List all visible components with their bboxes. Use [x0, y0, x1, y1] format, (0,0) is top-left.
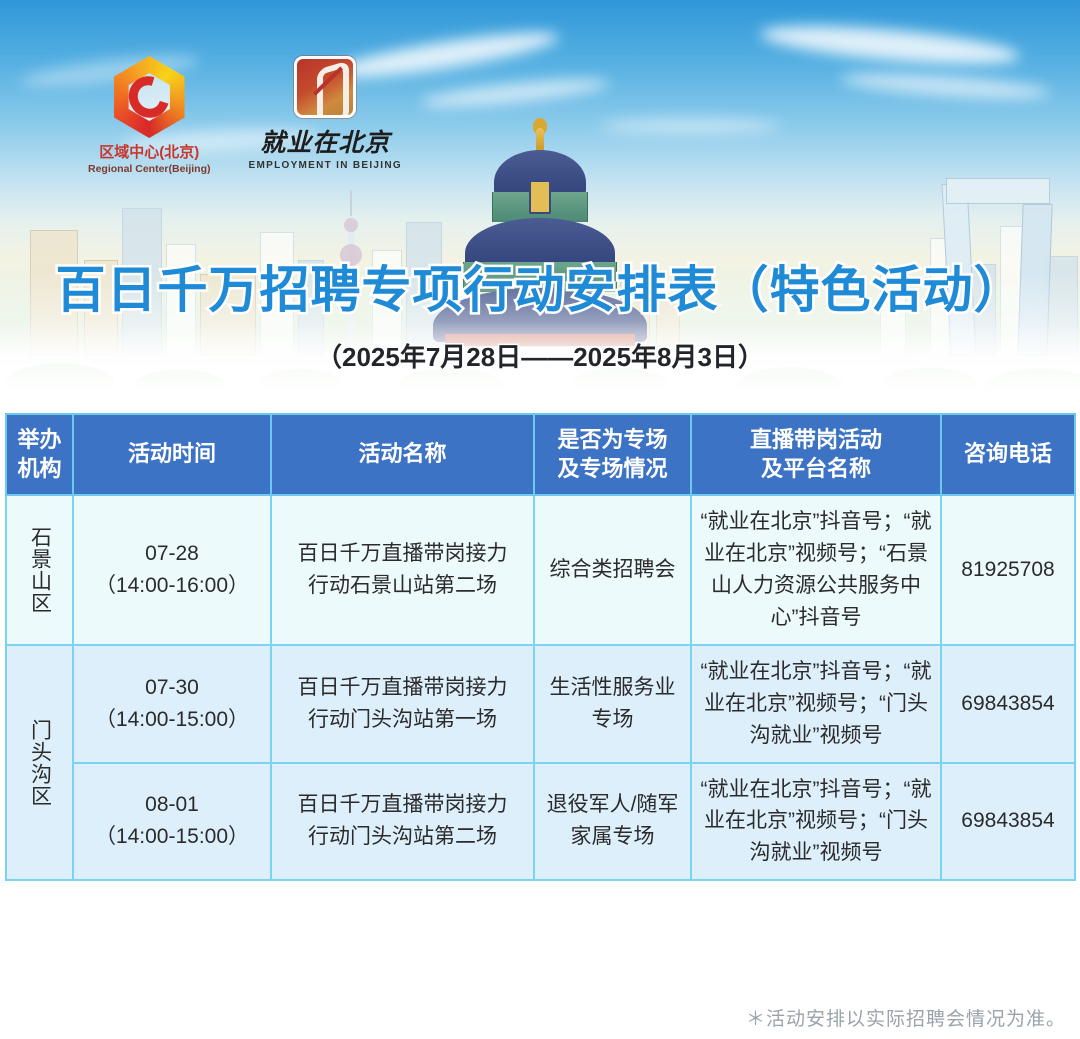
logo-employment-cn: 就业在北京 — [249, 123, 402, 159]
table-header-row: 举办 机构 活动时间 活动名称 是否为专场 及专场情况 直播带岗活动 及平台名称… — [6, 414, 1075, 495]
square-badge-logo-icon — [294, 56, 356, 118]
tv-tower-sphere-small — [344, 218, 358, 232]
column-header-organizer-line1: 举办 — [11, 426, 68, 455]
cell-special-session-line2: 家属专场 — [543, 821, 682, 853]
table-row: 门头沟区 07-30 （14:00-15:00） 百日千万直播带岗接力 行动门头… — [6, 645, 1075, 763]
cell-activity-name: 百日千万直播带岗接力 行动门头沟站第一场 — [271, 645, 534, 763]
table-row: 08-01 （14:00-15:00） 百日千万直播带岗接力 行动门头沟站第二场… — [6, 763, 1075, 881]
cell-special-session-line1: 退役军人/随军 — [543, 789, 682, 821]
cloud-decoration — [840, 69, 1051, 104]
column-header-time: 活动时间 — [73, 414, 271, 495]
column-header-livestream: 直播带岗活动 及平台名称 — [691, 414, 941, 495]
cell-phone: 69843854 — [941, 645, 1075, 763]
cell-special-session: 生活性服务业 专场 — [534, 645, 691, 763]
column-header-special-session-line2: 及专场情况 — [539, 455, 686, 484]
cell-activity-name-line1: 百日千万直播带岗接力 — [280, 789, 525, 821]
cloud-decoration — [759, 19, 1021, 72]
logo-regional-center-en: Regional Center(Beijing) — [88, 163, 211, 175]
cell-activity-name: 百日千万直播带岗接力 行动门头沟站第二场 — [271, 763, 534, 881]
cell-time: 08-01 （14:00-15:00） — [73, 763, 271, 881]
cctv-building-top — [946, 178, 1050, 204]
column-header-organizer: 举办 机构 — [6, 414, 73, 495]
cell-livestream: “就业在北京”抖音号；“就业在北京”视频号；“石景山人力资源公共服务中心”抖音号 — [691, 495, 941, 645]
cell-time-range: （14:00-15:00） — [82, 704, 262, 736]
logo-employment-en: EMPLOYMENT IN BEIJING — [249, 160, 402, 171]
schedule-table-container: 举办 机构 活动时间 活动名称 是否为专场 及专场情况 直播带岗活动 及平台名称… — [5, 413, 1074, 881]
page-subtitle-daterange: （2025年7月28日——2025年8月3日） — [0, 337, 1080, 374]
tv-tower-spire — [350, 190, 352, 216]
cloud-decoration — [420, 74, 611, 112]
column-header-special-session: 是否为专场 及专场情况 — [534, 414, 691, 495]
cell-time-date: 07-28 — [82, 538, 262, 570]
logo-regional-center-cn: 区域中心(北京) — [88, 141, 211, 162]
cell-time: 07-30 （14:00-15:00） — [73, 645, 271, 763]
cell-phone: 69843854 — [941, 763, 1075, 881]
table-footnote: ＊活动安排以实际招聘会情况为准。 — [746, 1004, 1066, 1031]
cell-special-session: 综合类招聘会 — [534, 495, 691, 645]
cell-time-date: 08-01 — [82, 789, 262, 821]
cell-activity-name-line2: 行动门头沟站第二场 — [280, 821, 525, 853]
hexagon-logo-icon — [108, 56, 190, 138]
table-row: 石景山区 07-28 （14:00-16:00） 百日千万直播带岗接力 行动石景… — [6, 495, 1075, 645]
cell-activity-name-line2: 行动门头沟站第一场 — [280, 704, 525, 736]
cell-time-range: （14:00-15:00） — [82, 821, 262, 853]
column-header-special-session-line1: 是否为专场 — [539, 426, 686, 455]
cell-time-date: 07-30 — [82, 672, 262, 704]
cell-activity-name-line1: 百日千万直播带岗接力 — [280, 672, 525, 704]
cell-organizer: 门头沟区 — [6, 645, 73, 880]
logo-employment-in-beijing: 就业在北京 EMPLOYMENT IN BEIJING — [249, 56, 402, 171]
page-title: 百日千万招聘专项行动安排表（特色活动） — [0, 250, 1080, 322]
column-header-livestream-line2: 及平台名称 — [696, 455, 936, 484]
cell-livestream: “就业在北京”抖音号；“就业在北京”视频号；“门头沟就业”视频号 — [691, 763, 941, 881]
cell-activity-name-line2: 行动石景山站第二场 — [280, 570, 525, 602]
column-header-activity-name: 活动名称 — [271, 414, 534, 495]
cell-time-range: （14:00-16:00） — [82, 570, 262, 602]
logo-group: 区域中心(北京) Regional Center(Beijing) 就业在北京 … — [88, 56, 402, 175]
column-header-livestream-line1: 直播带岗活动 — [696, 426, 936, 455]
cell-special-session-line1: 综合类招聘会 — [543, 554, 682, 586]
cell-special-session-line2: 专场 — [543, 704, 682, 736]
cell-organizer: 石景山区 — [6, 495, 73, 645]
cell-activity-name: 百日千万直播带岗接力 行动石景山站第二场 — [271, 495, 534, 645]
cell-special-session: 退役军人/随军 家属专场 — [534, 763, 691, 881]
schedule-table: 举办 机构 活动时间 活动名称 是否为专场 及专场情况 直播带岗活动 及平台名称… — [5, 413, 1076, 881]
column-header-organizer-line2: 机构 — [11, 455, 68, 484]
cell-time: 07-28 （14:00-16:00） — [73, 495, 271, 645]
schedule-table-body: 石景山区 07-28 （14:00-16:00） 百日千万直播带岗接力 行动石景… — [6, 495, 1075, 880]
cell-phone: 81925708 — [941, 495, 1075, 645]
column-header-phone: 咨询电话 — [941, 414, 1075, 495]
cell-special-session-line1: 生活性服务业 — [543, 672, 682, 704]
logo-regional-center-beijing: 区域中心(北京) Regional Center(Beijing) — [88, 56, 211, 175]
cell-livestream: “就业在北京”抖音号；“就业在北京”视频号；“门头沟就业”视频号 — [691, 645, 941, 763]
cell-activity-name-line1: 百日千万直播带岗接力 — [280, 538, 525, 570]
